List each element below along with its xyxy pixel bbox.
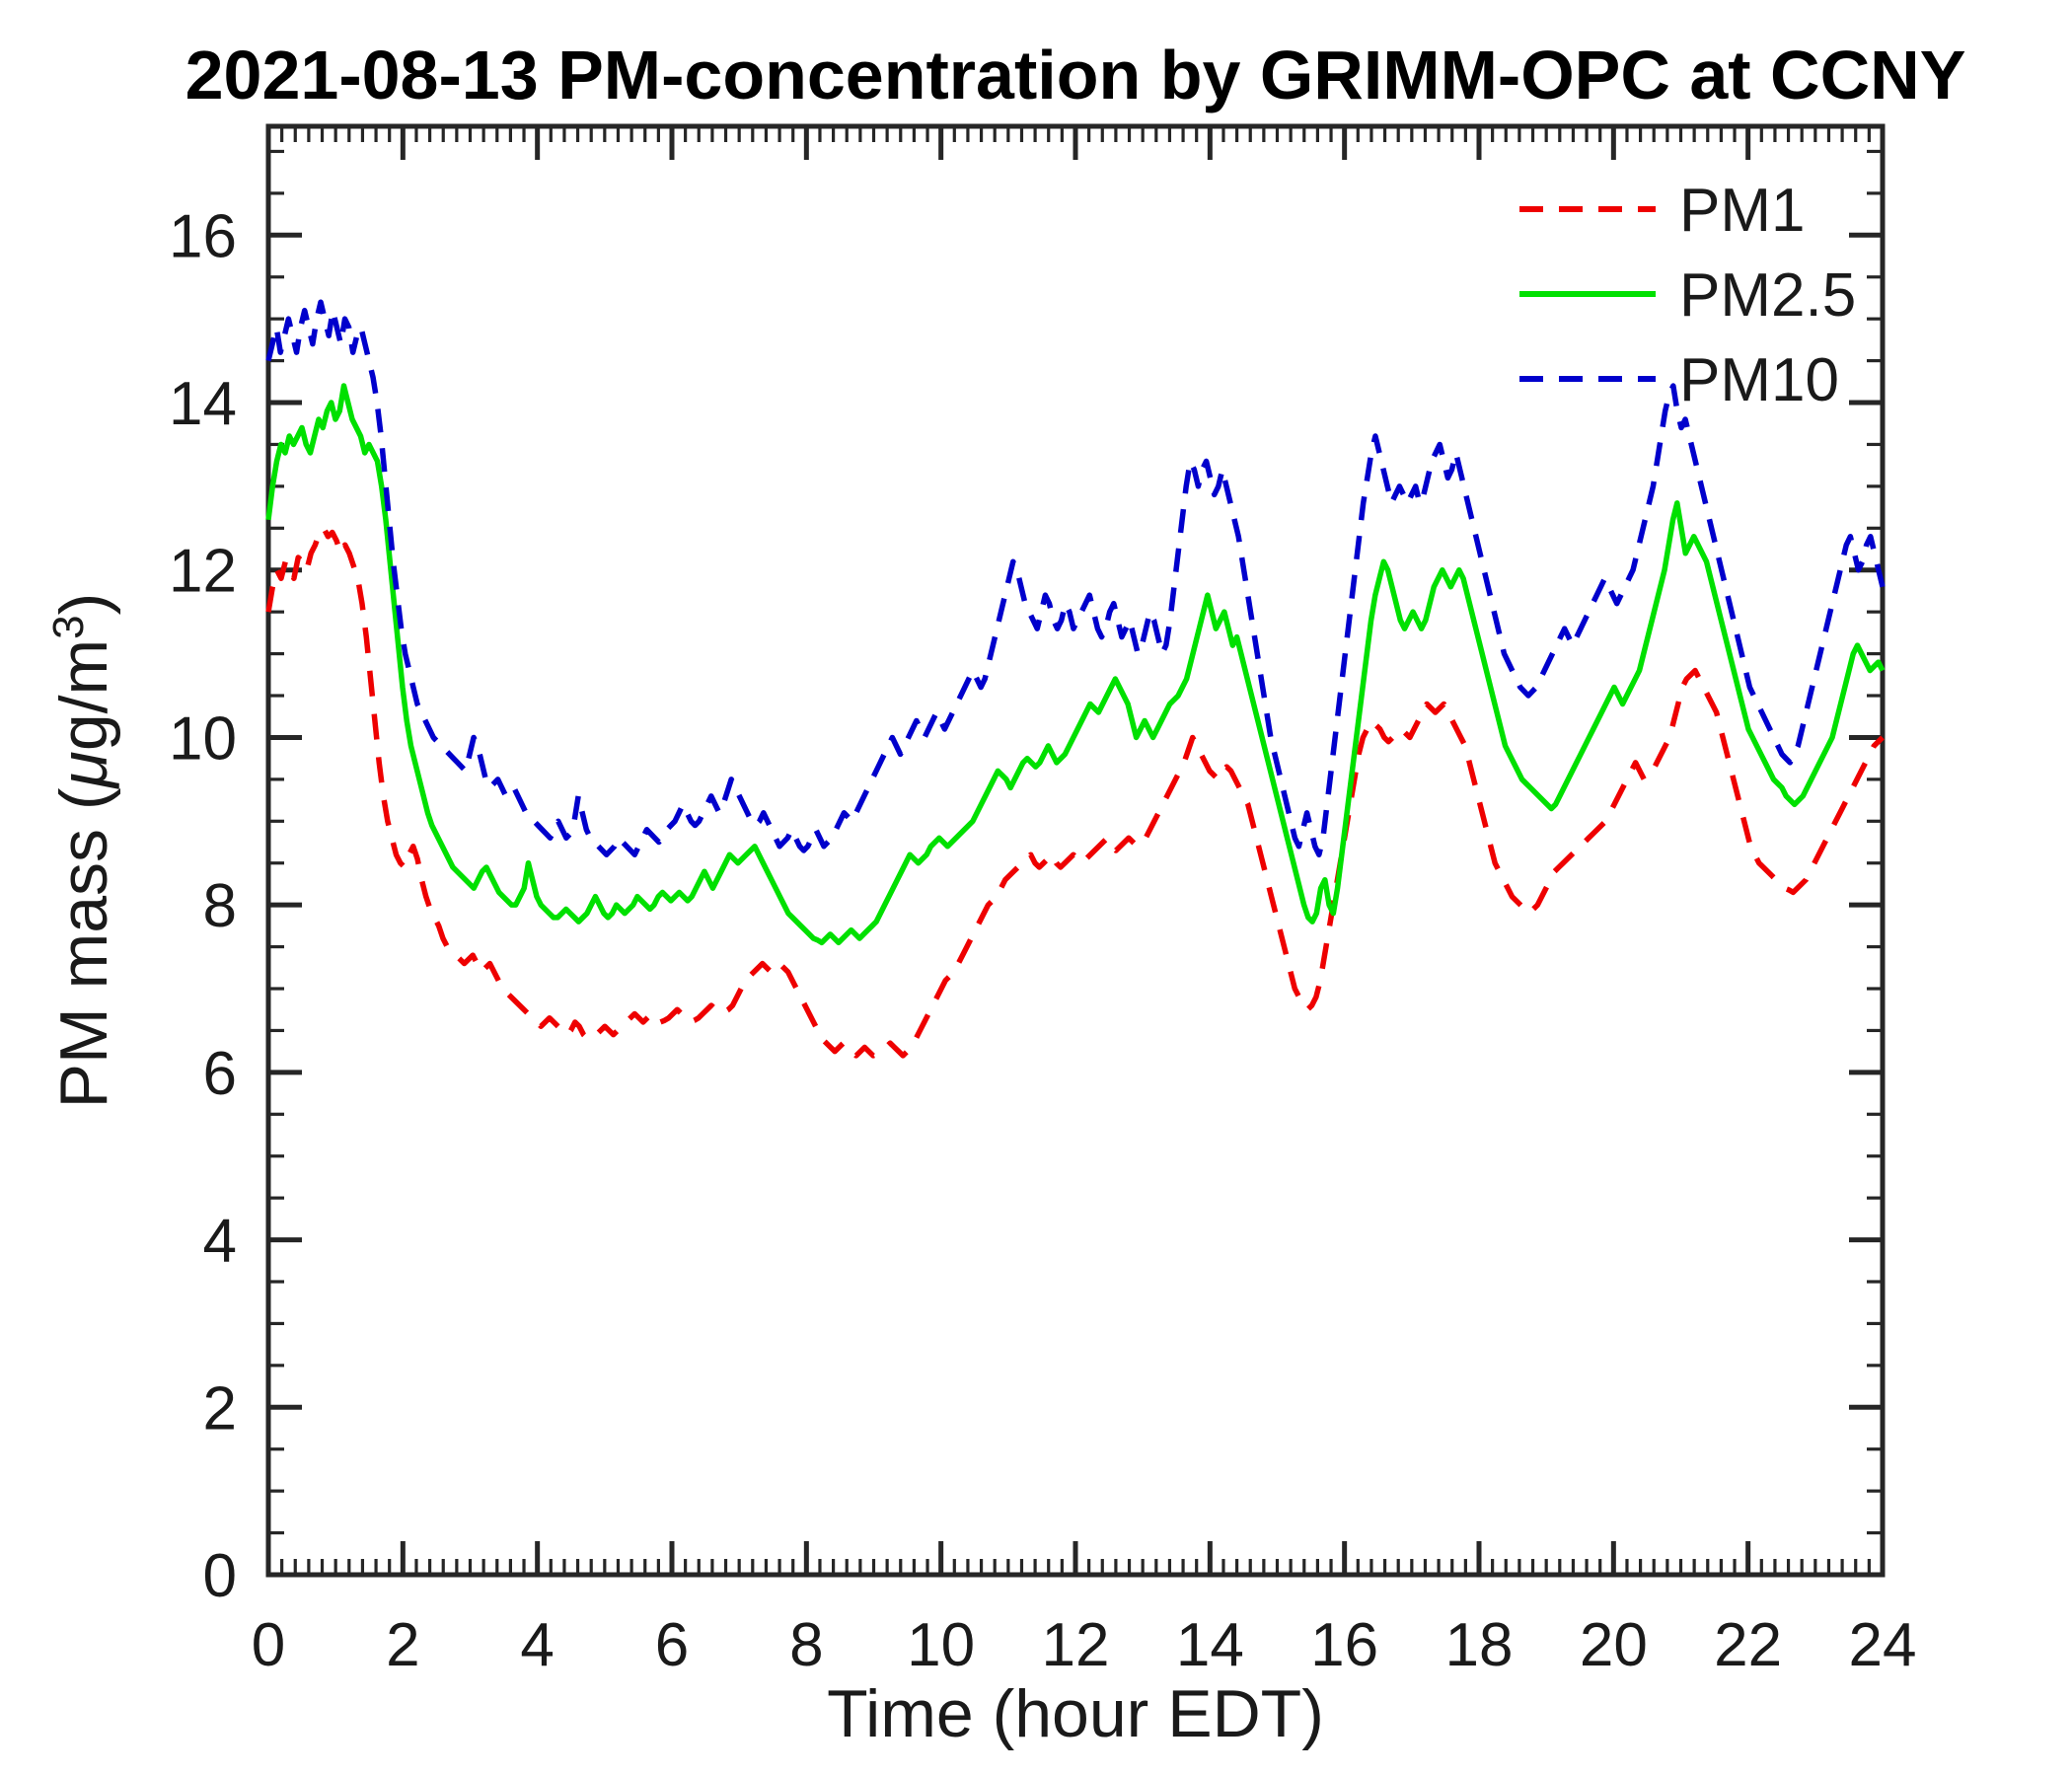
legend-label-pm10: PM10 (1679, 346, 1839, 414)
legend-label-pm1: PM1 (1679, 177, 1805, 245)
x-tick-label: 8 (789, 1611, 823, 1679)
y-tick-label: 8 (203, 872, 237, 940)
legend-label-pm2-5: PM2.5 (1679, 261, 1856, 330)
pm-concentration-chart: 2021-08-13 PM-concentration by GRIMM-OPC… (0, 0, 2072, 1776)
x-axis-label: Time (hour EDT) (827, 1676, 1324, 1751)
x-tick-label: 0 (252, 1611, 285, 1679)
y-axis-label-suffix: ) (46, 593, 121, 616)
y-axis-label: PM mass (μg/m3) (44, 593, 122, 1109)
x-tick-label: 4 (520, 1611, 554, 1679)
y-tick-label: 14 (169, 370, 237, 438)
y-tick-label: 16 (169, 202, 237, 270)
x-tick-label: 2 (386, 1611, 419, 1679)
y-axis-label-mid: g/m (46, 639, 121, 751)
x-tick-label: 22 (1714, 1611, 1782, 1679)
chart-title: 2021-08-13 PM-concentration by GRIMM-OPC… (185, 37, 1966, 113)
y-tick-label: 6 (203, 1040, 237, 1108)
x-tick-label: 14 (1176, 1611, 1244, 1679)
x-tick-label: 12 (1042, 1611, 1110, 1679)
y-tick-label: 4 (203, 1208, 237, 1276)
chart-page: 2021-08-13 PM-concentration by GRIMM-OPC… (0, 0, 2072, 1776)
x-tick-label: 24 (1849, 1611, 1917, 1679)
y-axis-label-mu: μ (46, 751, 121, 789)
y-axis-label-exponent: 3 (44, 615, 93, 638)
x-tick-label: 20 (1580, 1611, 1648, 1679)
x-tick-label: 16 (1310, 1611, 1378, 1679)
y-tick-label: 12 (169, 538, 237, 606)
x-tick-label: 6 (655, 1611, 689, 1679)
svg-text:PM mass (μg/m3): PM mass (μg/m3) (44, 593, 122, 1109)
y-tick-label: 0 (203, 1542, 237, 1610)
y-axis-label-prefix: PM mass ( (46, 787, 121, 1108)
x-tick-label: 18 (1445, 1611, 1514, 1679)
y-tick-label: 10 (169, 704, 237, 773)
x-tick-label: 10 (907, 1611, 975, 1679)
y-tick-label: 2 (203, 1374, 237, 1443)
